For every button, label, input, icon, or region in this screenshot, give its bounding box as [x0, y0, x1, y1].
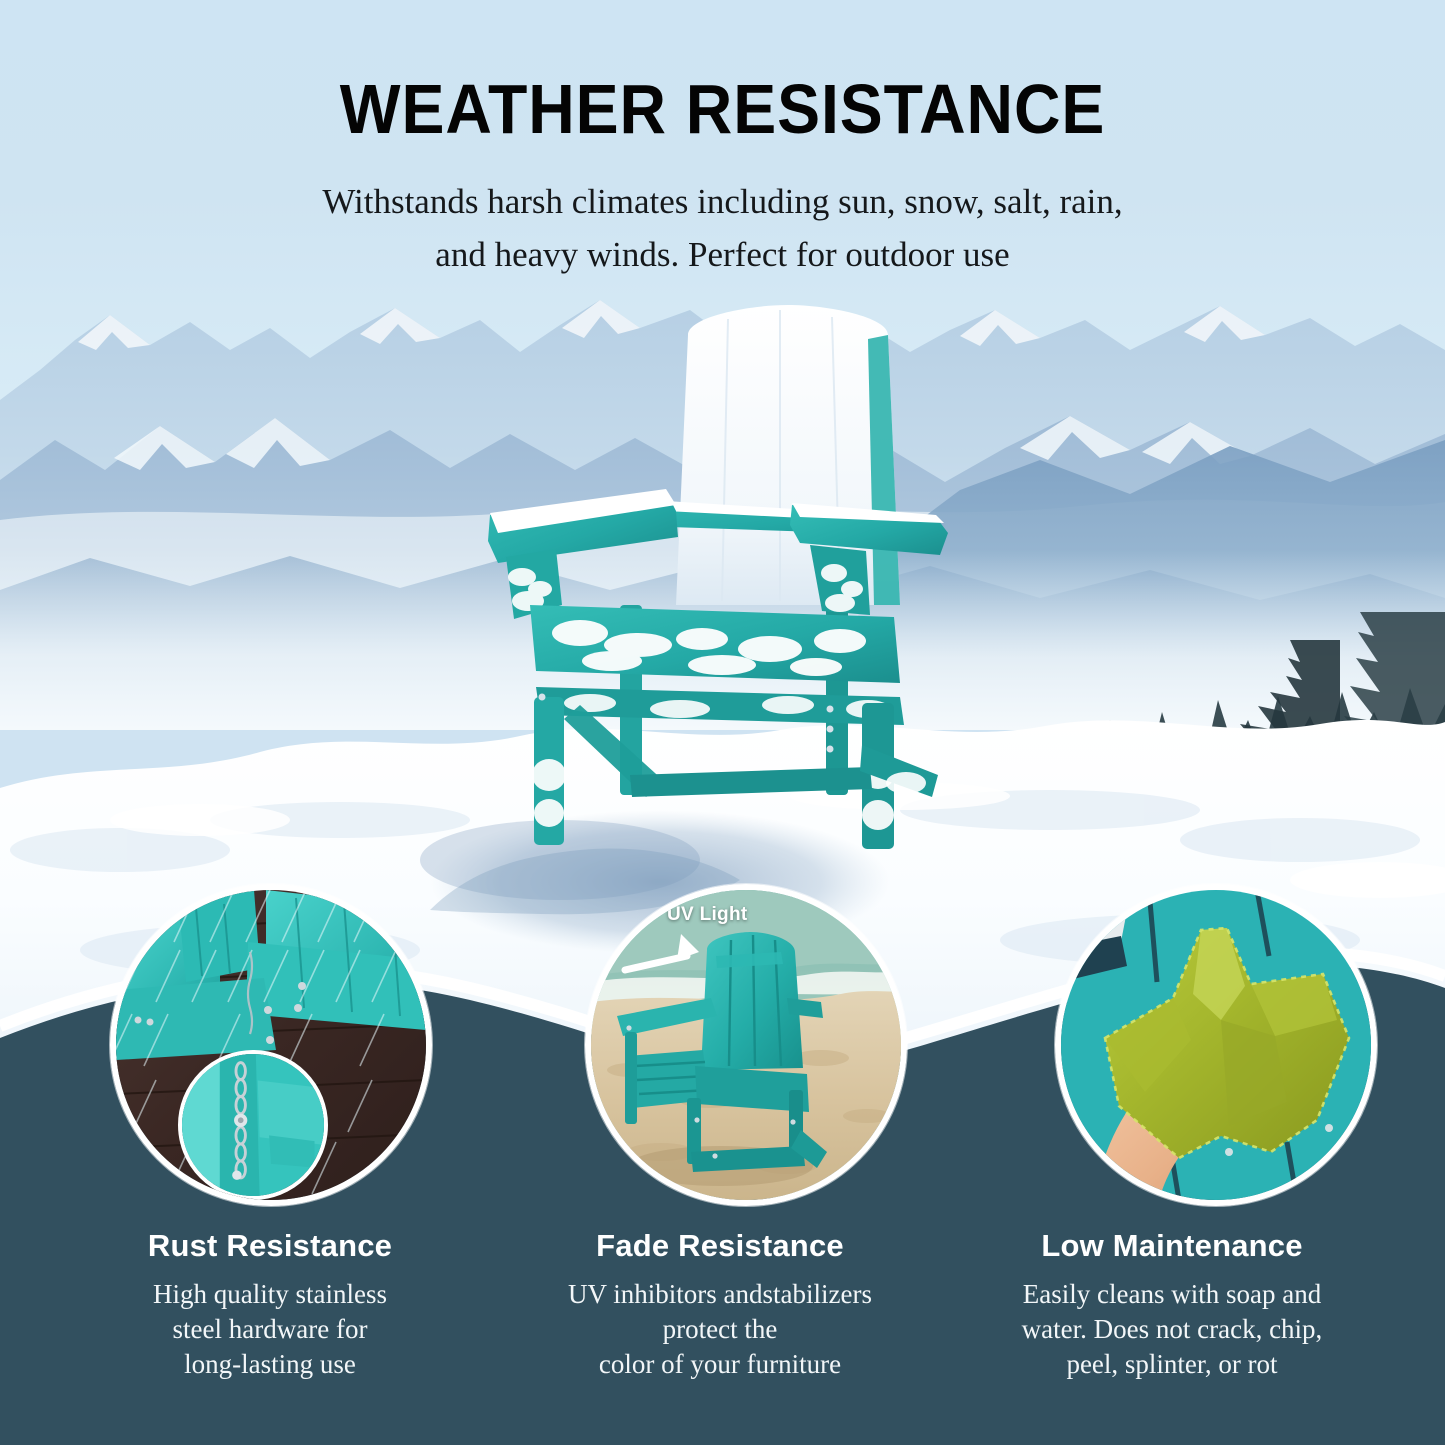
- feature-body-line-1: UV inhibitors andstabilizers: [510, 1277, 930, 1312]
- feature-body-line-2: water. Does not crack, chip,: [962, 1312, 1382, 1347]
- feature-body-line-1: Easily cleans with soap and: [962, 1277, 1382, 1312]
- feature-text-rust-resistance: Rust Resistance High quality stainless s…: [60, 1228, 480, 1382]
- feature-body-rust-resistance: High quality stainless steel hardware fo…: [60, 1277, 480, 1382]
- feature-image-fade-resistance[interactable]: UV Light: [585, 884, 907, 1206]
- uv-light-arrow-icon: [621, 926, 731, 986]
- feature-image-rust-resistance[interactable]: [110, 884, 432, 1206]
- feature-image-low-maintenance[interactable]: [1055, 884, 1377, 1206]
- feature-title-low-maintenance: Low Maintenance: [962, 1228, 1382, 1264]
- feature-body-line-3: long-lasting use: [60, 1347, 480, 1382]
- feature-title-fade-resistance: Fade Resistance: [510, 1228, 930, 1264]
- feature-body-line-2: steel hardware for: [60, 1312, 480, 1347]
- uv-light-label: UV Light: [667, 904, 748, 926]
- poster-canvas: WEATHER RESISTANCE Withstands harsh clim…: [0, 0, 1445, 1445]
- subtitle-line-2: and heavy winds. Perfect for outdoor use: [0, 229, 1445, 282]
- feature-body-line-3: color of your furniture: [510, 1347, 930, 1382]
- feature-text-low-maintenance: Low Maintenance Easily cleans with soap …: [962, 1228, 1382, 1382]
- feature-body-line-1: High quality stainless: [60, 1277, 480, 1312]
- feature-body-low-maintenance: Easily cleans with soap and water. Does …: [962, 1277, 1382, 1382]
- feature-title-rust-resistance: Rust Resistance: [60, 1228, 480, 1264]
- feature-body-fade-resistance: UV inhibitors andstabilizers protect the…: [510, 1277, 930, 1382]
- feature-body-line-3: peel, splinter, or rot: [962, 1347, 1382, 1382]
- page-subtitle: Withstands harsh climates including sun,…: [0, 176, 1445, 281]
- page-title: WEATHER RESISTANCE: [58, 74, 1387, 144]
- subtitle-line-1: Withstands harsh climates including sun,…: [0, 176, 1445, 229]
- feature-text-fade-resistance: Fade Resistance UV inhibitors andstabili…: [510, 1228, 930, 1382]
- hero-chair-illustration: [470, 305, 970, 865]
- rust-resistance-detail-inset: [178, 1050, 328, 1200]
- feature-body-line-2: protect the: [510, 1312, 930, 1347]
- low-maintenance-photo: [1061, 890, 1371, 1200]
